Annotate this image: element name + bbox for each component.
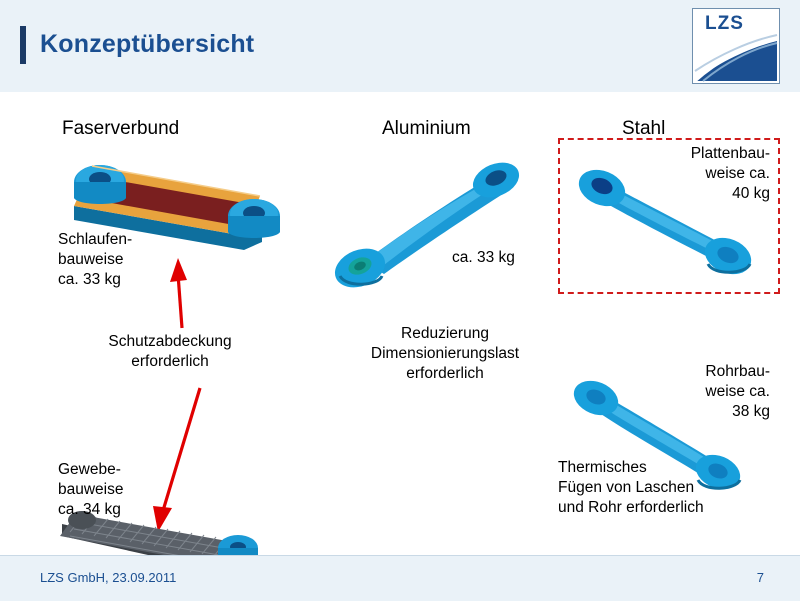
page-title: Konzeptübersicht [40,30,254,59]
slide-header: Konzeptübersicht LZS [0,0,800,93]
caption-aluminium-weight: ca. 33 kg [452,248,515,268]
caption-steel-plate: Plattenbau- weise ca. 40 kg [600,144,770,203]
caption-fvk-protection: Schutzabdeckung erforderlich [60,332,280,372]
lzs-logo: LZS [692,8,780,84]
column-heading-faserverbund: Faserverbund [62,118,179,140]
arrow-up-red [158,242,206,330]
column-heading-stahl: Stahl [622,118,665,140]
footer-source: LZS GmbH, 23.09.2011 [40,570,176,585]
title-accent-bar [20,26,26,64]
slide-body: Faserverbund Aluminium Stahl Schlaufen- [0,92,800,555]
caption-fvk-fabric: Gewebe- bauweise ca. 34 kg [58,460,124,519]
logo-graphic [693,9,779,83]
column-heading-aluminium: Aluminium [382,118,471,140]
slide-footer: LZS GmbH, 23.09.2011 7 [0,555,800,601]
page-number: 7 [757,570,764,585]
caption-steel-note: Thermisches Fügen von Laschen und Rohr e… [558,458,798,517]
caption-fvk-loop: Schlaufen- bauweise ca. 33 kg [58,230,132,289]
caption-aluminium-note: Reduzierung Dimensionierungslast erforde… [330,324,560,383]
caption-steel-tube: Rohrbau- weise ca. 38 kg [600,362,770,421]
part-aluminium-rod [320,150,540,290]
slide: Konzeptübersicht LZS Faserverbund Alumin… [0,0,800,600]
